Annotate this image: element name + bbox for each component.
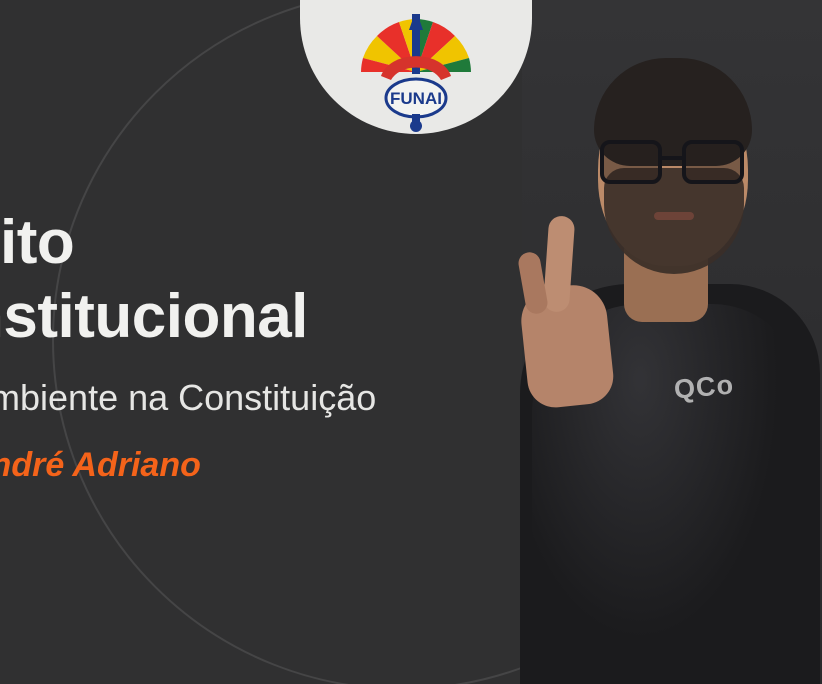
- glasses-bridge: [662, 156, 684, 160]
- glasses-lens-right: [682, 140, 744, 184]
- speaker-portrait: QCo: [502, 0, 822, 684]
- funai-logo-icon: FUNAI: [341, 14, 491, 134]
- svg-text:FUNAI: FUNAI: [390, 89, 442, 108]
- slide-title-line-1: eito: [0, 212, 566, 274]
- presenter-name: André Adriano: [0, 446, 566, 484]
- speaker-glasses: [598, 140, 750, 186]
- shirt-logo-text: QCo: [673, 369, 735, 405]
- slide-subtitle: Ambiente na Constituição: [0, 378, 566, 418]
- video-slide-frame: FUNAI eito nstitucional Ambiente na Cons…: [0, 0, 822, 684]
- glasses-lens-left: [600, 140, 662, 184]
- slide-text-block: eito nstitucional Ambiente na Constituiç…: [0, 212, 566, 484]
- slide-title-line-2: nstitucional: [0, 286, 566, 348]
- speaker-mouth: [654, 212, 694, 220]
- speaker-thumb: [517, 251, 549, 316]
